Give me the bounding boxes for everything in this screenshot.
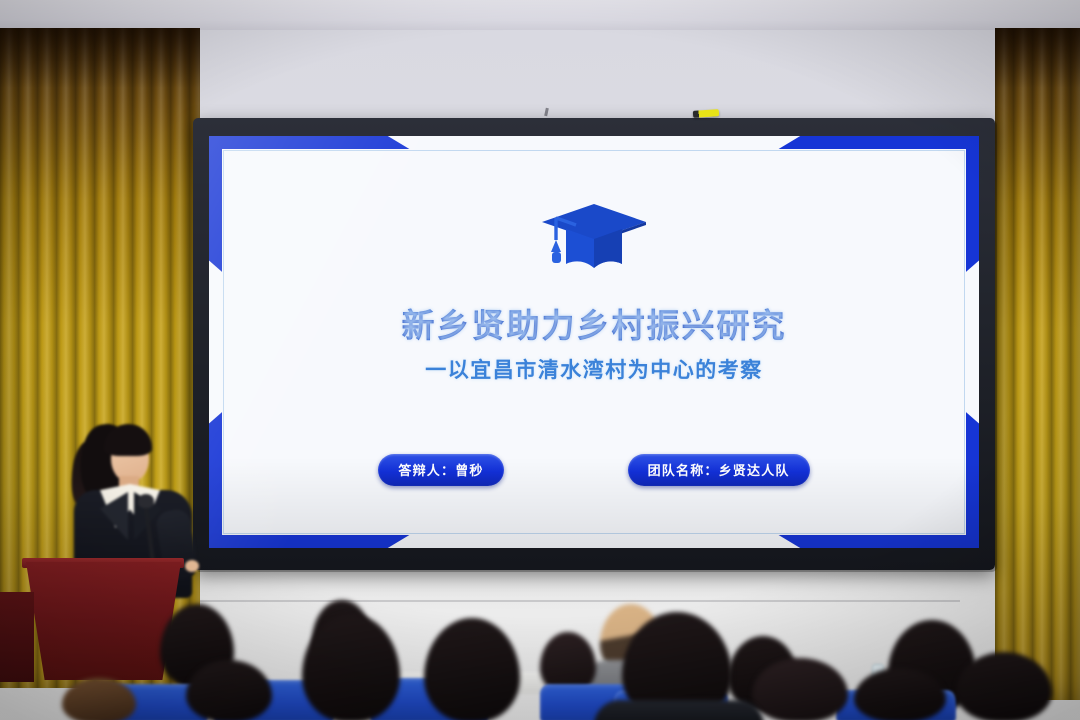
curtain-right-shadow: [995, 28, 1080, 88]
audience-shoulders: [594, 700, 764, 720]
presentation-slide: 新乡贤助力乡村振兴研究 一以宜昌市清水湾村为中心的考察 答辩人：曾秒 团队名称：…: [209, 136, 979, 548]
team-pill: 团队名称：乡贤达人队: [628, 454, 810, 486]
curtain-right: [995, 28, 1080, 700]
microphone-icon: [138, 494, 154, 508]
presentation-photo-scene: 新乡贤助力乡村振兴研究 一以宜昌市清水湾村为中心的考察 答辩人：曾秒 团队名称：…: [0, 0, 1080, 720]
slide-title: 新乡贤助力乡村振兴研究: [402, 299, 787, 347]
podium-side-panel: [0, 592, 34, 682]
slide-subtitle: 一以宜昌市清水湾村为中心的考察: [425, 354, 763, 384]
display-panel[interactable]: 新乡贤助力乡村振兴研究 一以宜昌市清水湾村为中心的考察 答辩人：曾秒 团队名称：…: [209, 136, 979, 548]
slide-credit-row: 答辩人：曾秒 团队名称：乡贤达人队: [209, 454, 979, 486]
podium: [26, 562, 181, 680]
presenter-hand: [185, 560, 199, 572]
slide-content: 新乡贤助力乡村振兴研究 一以宜昌市清水湾村为中心的考察: [209, 136, 979, 548]
curtain-left-shadow: [0, 28, 200, 88]
graduation-cap-icon: [538, 198, 650, 282]
display-screen-bezel: 新乡贤助力乡村振兴研究 一以宜昌市清水湾村为中心的考察 答辩人：曾秒 团队名称：…: [193, 118, 995, 570]
presenter-pill: 答辩人：曾秒: [378, 454, 503, 486]
